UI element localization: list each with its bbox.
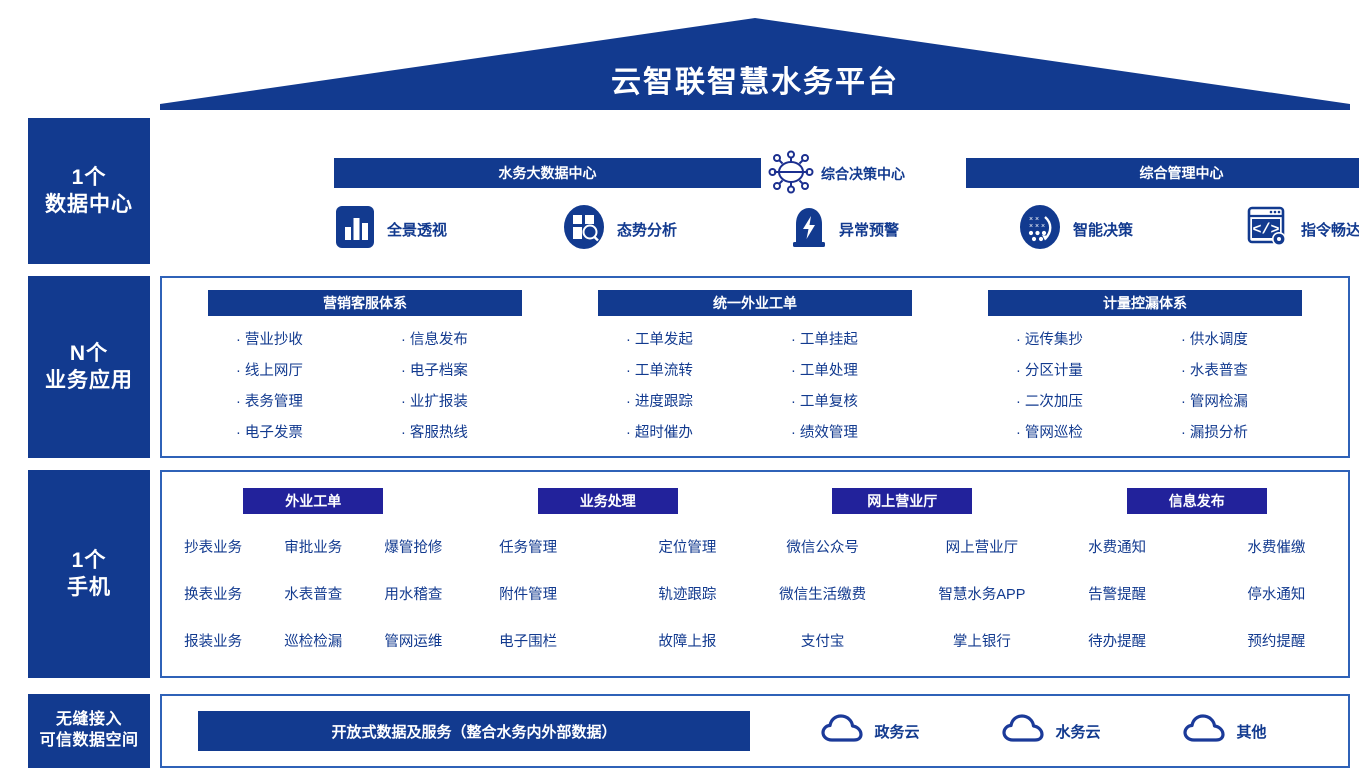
capability-situation[interactable]: 态势分析 — [562, 206, 790, 252]
capability-ai-decision-label: 智能决策 — [1073, 219, 1133, 240]
list-item[interactable]: 附件管理 — [499, 583, 557, 604]
svg-text:×: × — [1035, 216, 1039, 223]
list-item[interactable]: 停水通知 — [1247, 583, 1305, 604]
diagram-canvas: 云智联智慧水务平台 1个 数据中心 水务大数据中心 — [0, 0, 1359, 783]
list-item[interactable]: 定位管理 — [658, 536, 716, 557]
data-center-bars: 水务大数据中心 — [334, 158, 1359, 188]
bar-management-center[interactable]: 综合管理中心 — [966, 158, 1359, 188]
list-item[interactable]: 轨迹跟踪 — [658, 583, 716, 604]
list-item[interactable]: 智慧水务APP — [938, 583, 1025, 604]
row-label-business-apps-line2: 业务应用 — [45, 367, 133, 394]
capability-situation-label: 态势分析 — [617, 219, 677, 240]
svg-text:×: × — [1029, 216, 1033, 223]
app-group-metering: 计量控漏体系 远传集抄 供水调度 分区计量 水表普查 二次加压 管网检漏 管网巡… — [950, 290, 1340, 448]
platform-roof-banner: 云智联智慧水务平台 — [160, 18, 1350, 110]
open-data-service-bar[interactable]: 开放式数据及服务（整合水务内外部数据） — [198, 711, 750, 751]
row-label-data-center-line2: 数据中心 — [45, 191, 133, 218]
row-label-data-center: 1个 数据中心 — [28, 118, 150, 264]
capability-panorama-label: 全景透视 — [387, 219, 447, 240]
capability-alert-label: 异常预警 — [839, 219, 899, 240]
list-item[interactable]: 待办提醒 — [1088, 630, 1146, 651]
list-item[interactable]: 业扩报装 — [365, 390, 530, 411]
cloud-water[interactable]: 水务云 — [1002, 714, 1100, 749]
row-label-data-center-line1: 1个 — [45, 164, 133, 191]
code-window-icon: </> — [1246, 204, 1290, 255]
list-item[interactable]: 电子围栏 — [499, 630, 557, 651]
decision-center-node[interactable]: 综合决策中心 — [771, 152, 961, 196]
capability-command[interactable]: </> 指令畅达 — [1246, 206, 1359, 252]
row-mobile: 1个 手机 外业工单 抄表业务 审批业务 爆管抢修 换表业务 水表普查 用水稽查… — [28, 470, 1350, 678]
capability-ai-decision[interactable]: × × × × × — [1018, 206, 1246, 252]
mobile-group-online-hall: 网上营业厅 微信公众号 网上营业厅 微信生活缴费 智慧水务APP 支付宝 掌上银… — [755, 488, 1050, 666]
list-item[interactable]: 绩效管理 — [755, 421, 920, 442]
mobile-group-online-hall-items: 微信公众号 网上营业厅 微信生活缴费 智慧水务APP 支付宝 掌上银行 — [755, 536, 1050, 651]
cloud-government-label: 政务云 — [874, 721, 919, 742]
mobile-group-field-workorder-items: 抄表业务 审批业务 爆管抢修 换表业务 水表普查 用水稽查 报装业务 巡检检漏 … — [166, 536, 461, 651]
list-item[interactable]: 进度跟踪 — [590, 390, 755, 411]
list-item[interactable]: 审批业务 — [284, 536, 342, 557]
mobile-group-info-publish: 信息发布 水费通知 水费催缴 告警提醒 停水通知 待办提醒 预约提醒 — [1050, 488, 1345, 666]
mobile-group-business-process-items: 任务管理 定位管理 附件管理 轨迹跟踪 电子围栏 故障上报 — [461, 536, 756, 651]
row-data-space: 无缝接入 可信数据空间 开放式数据及服务（整合水务内外部数据） 政务云 — [28, 694, 1350, 768]
app-group-metering-title[interactable]: 计量控漏体系 — [988, 290, 1302, 316]
list-item[interactable]: 营业抄收 — [200, 328, 365, 349]
row-label-mobile: 1个 手机 — [28, 470, 150, 678]
ai-decision-icon: × × × × × — [1018, 204, 1062, 255]
mobile-group-field-workorder-title[interactable]: 外业工单 — [243, 488, 383, 514]
list-item[interactable]: 管网巡检 — [980, 421, 1145, 442]
list-item[interactable]: 分区计量 — [980, 359, 1145, 380]
row-body-business-apps: 营销客服体系 营业抄收 信息发布 线上网厅 电子档案 表务管理 业扩报装 电子发… — [160, 276, 1350, 458]
data-space-content: 开放式数据及服务（整合水务内外部数据） 政务云 — [162, 696, 1348, 766]
row-label-business-apps-line1: N个 — [45, 340, 133, 367]
dashboard-search-icon — [562, 204, 606, 255]
list-item[interactable]: 告警提醒 — [1088, 583, 1146, 604]
alert-bell-icon — [790, 204, 828, 255]
row-label-mobile-line1: 1个 — [67, 547, 111, 574]
list-item[interactable]: 管网运维 — [384, 630, 442, 651]
row-data-center: 1个 数据中心 水务大数据中心 — [28, 118, 1350, 264]
list-item[interactable]: 信息发布 — [365, 328, 530, 349]
cloud-icon — [1183, 714, 1225, 749]
row-label-business-apps: N个 业务应用 — [28, 276, 150, 458]
cloud-water-label: 水务云 — [1055, 721, 1100, 742]
row-body-data-center: 水务大数据中心 — [150, 118, 1350, 264]
svg-text:×: × — [1041, 223, 1045, 230]
data-center-capability-list: 全景透视 态势分析 — [334, 206, 1359, 252]
cloud-other[interactable]: 其他 — [1183, 714, 1266, 749]
list-item[interactable]: 工单复核 — [755, 390, 920, 411]
list-item[interactable]: 表务管理 — [200, 390, 365, 411]
bar-big-data-center[interactable]: 水务大数据中心 — [334, 158, 761, 188]
capability-command-label: 指令畅达 — [1301, 219, 1359, 240]
mobile-group-business-process: 业务处理 任务管理 定位管理 附件管理 轨迹跟踪 电子围栏 故障上报 — [461, 488, 756, 666]
list-item[interactable]: 工单流转 — [590, 359, 755, 380]
list-item[interactable]: 支付宝 — [801, 630, 845, 651]
row-label-data-space: 无缝接入 可信数据空间 — [28, 694, 150, 768]
list-item[interactable]: 用水稽查 — [384, 583, 442, 604]
mobile-group-business-process-title[interactable]: 业务处理 — [538, 488, 678, 514]
list-item[interactable]: 水费催缴 — [1247, 536, 1305, 557]
cloud-list: 政务云 水务云 — [750, 714, 1348, 749]
cloud-government[interactable]: 政务云 — [821, 714, 919, 749]
app-group-metering-items: 远传集抄 供水调度 分区计量 水表普查 二次加压 管网检漏 管网巡检 漏损分析 — [980, 328, 1310, 442]
list-item[interactable]: 客服热线 — [365, 421, 530, 442]
list-item[interactable]: 工单发起 — [590, 328, 755, 349]
capability-alert[interactable]: 异常预警 — [790, 206, 1018, 252]
app-group-workorder-items: 工单发起 工单挂起 工单流转 工单处理 进度跟踪 工单复核 超时催办 绩效管理 — [590, 328, 920, 442]
list-item[interactable]: 微信公众号 — [786, 536, 859, 557]
row-body-data-space: 开放式数据及服务（整合水务内外部数据） 政务云 — [160, 694, 1350, 768]
list-item[interactable]: 供水调度 — [1145, 328, 1310, 349]
list-item[interactable]: 微信生活缴费 — [779, 583, 866, 604]
app-group-workorder-title[interactable]: 统一外业工单 — [598, 290, 912, 316]
row-label-data-space-line2: 可信数据空间 — [39, 731, 138, 752]
list-item[interactable]: 工单处理 — [755, 359, 920, 380]
row-business-apps: N个 业务应用 营销客服体系 营业抄收 信息发布 线上网厅 电子档案 表务管理 … — [28, 276, 1350, 458]
list-item[interactable]: 巡检检漏 — [284, 630, 342, 651]
list-item[interactable]: 漏损分析 — [1145, 421, 1310, 442]
list-item[interactable]: 管网检漏 — [1145, 390, 1310, 411]
cloud-other-label: 其他 — [1236, 721, 1266, 742]
row-label-data-space-line1: 无缝接入 — [39, 710, 138, 731]
list-item[interactable]: 故障上报 — [658, 630, 716, 651]
list-item[interactable]: 水表普查 — [284, 583, 342, 604]
list-item[interactable]: 电子发票 — [200, 421, 365, 442]
business-app-groups: 营销客服体系 营业抄收 信息发布 线上网厅 电子档案 表务管理 业扩报装 电子发… — [162, 278, 1348, 456]
list-item[interactable]: 换表业务 — [184, 583, 242, 604]
cloud-icon — [1002, 714, 1044, 749]
row-label-mobile-line2: 手机 — [67, 574, 111, 601]
capability-panorama[interactable]: 全景透视 — [334, 206, 562, 252]
svg-text:×: × — [1029, 223, 1033, 230]
list-item[interactable]: 工单挂起 — [755, 328, 920, 349]
app-group-marketing: 营销客服体系 营业抄收 信息发布 线上网厅 电子档案 表务管理 业扩报装 电子发… — [170, 290, 560, 448]
list-item[interactable]: 爆管抢修 — [384, 536, 442, 557]
list-item[interactable]: 线上网厅 — [200, 359, 365, 380]
mobile-groups: 外业工单 抄表业务 审批业务 爆管抢修 换表业务 水表普查 用水稽查 报装业务 … — [162, 472, 1348, 676]
network-hub-icon — [771, 151, 811, 198]
list-item[interactable]: 电子档案 — [365, 359, 530, 380]
list-item[interactable]: 报装业务 — [184, 630, 242, 651]
mobile-group-info-publish-items: 水费通知 水费催缴 告警提醒 停水通知 待办提醒 预约提醒 — [1050, 536, 1345, 651]
row-body-mobile: 外业工单 抄表业务 审批业务 爆管抢修 换表业务 水表普查 用水稽查 报装业务 … — [160, 470, 1350, 678]
mobile-group-online-hall-title[interactable]: 网上营业厅 — [832, 488, 972, 514]
list-item[interactable]: 预约提醒 — [1247, 630, 1305, 651]
app-group-marketing-items: 营业抄收 信息发布 线上网厅 电子档案 表务管理 业扩报装 电子发票 客服热线 — [200, 328, 530, 442]
app-group-workorder: 统一外业工单 工单发起 工单挂起 工单流转 工单处理 进度跟踪 工单复核 超时催… — [560, 290, 950, 448]
list-item[interactable]: 超时催办 — [590, 421, 755, 442]
mobile-group-field-workorder: 外业工单 抄表业务 审批业务 爆管抢修 换表业务 水表普查 用水稽查 报装业务 … — [166, 488, 461, 666]
svg-text:×: × — [1035, 223, 1039, 230]
list-item[interactable]: 网上营业厅 — [946, 536, 1019, 557]
bar-chart-icon — [334, 204, 376, 255]
list-item[interactable]: 水费通知 — [1088, 536, 1146, 557]
list-item[interactable]: 抄表业务 — [184, 536, 242, 557]
list-item[interactable]: 水表普查 — [1145, 359, 1310, 380]
app-group-marketing-title[interactable]: 营销客服体系 — [208, 290, 522, 316]
list-item[interactable]: 任务管理 — [499, 536, 557, 557]
list-item[interactable]: 掌上银行 — [953, 630, 1011, 651]
list-item[interactable]: 远传集抄 — [980, 328, 1145, 349]
page-title: 云智联智慧水务平台 — [160, 68, 1350, 98]
mobile-group-info-publish-title[interactable]: 信息发布 — [1127, 488, 1267, 514]
cloud-icon — [821, 714, 863, 749]
decision-center-label: 综合决策中心 — [821, 164, 905, 184]
list-item[interactable]: 二次加压 — [980, 390, 1145, 411]
